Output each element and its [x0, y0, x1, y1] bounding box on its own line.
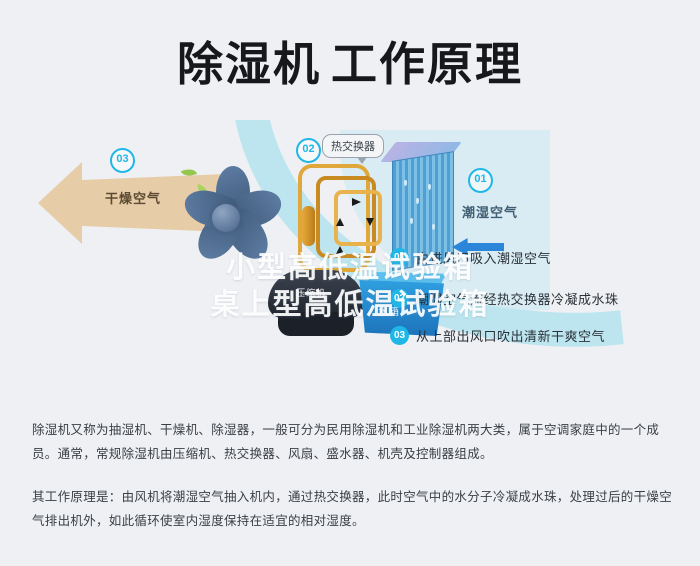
step-item: 03 从上部出风口吹出清新干爽空气	[390, 326, 690, 345]
fan-hub	[212, 204, 240, 232]
dehumidifier-diagram: 干燥空气	[0, 120, 700, 385]
flow-arrow-up-icon	[336, 218, 344, 226]
compressor-base	[278, 312, 354, 336]
step-list: 01 由进风口吸入潮湿空气 02 潮湿空气流经热交换器冷凝成水珠 03 从上部出…	[390, 248, 690, 363]
step-text: 由进风口吸入潮湿空气	[416, 248, 551, 267]
refrigerant-coil-assembly	[290, 160, 400, 280]
compressor-label: 压缩机	[296, 286, 326, 299]
infographic-page: 除湿机工作原理 干燥空气	[0, 0, 700, 566]
step-item: 02 潮湿空气流经热交换器冷凝成水珠	[390, 289, 690, 308]
paragraph-1: 除湿机又称为抽湿机、干燥机、除湿器，一般可分为民用除湿机和工业除湿机两大类，属于…	[32, 418, 672, 467]
paragraph-2: 其工作原理是：由风机将潮湿空气抽入机内，通过热交换器，此时空气中的水分子冷凝成水…	[32, 485, 672, 534]
title-part-1: 除湿机	[177, 38, 321, 90]
step-number: 03	[390, 326, 409, 345]
page-title: 除湿机工作原理	[0, 28, 700, 94]
flow-arrow-right-icon	[352, 198, 361, 206]
step-number: 02	[390, 289, 409, 308]
receiver-cylinder	[302, 206, 315, 246]
step-item: 01 由进风口吸入潮湿空气	[390, 248, 690, 267]
diagram-badge-03: 03	[110, 148, 135, 173]
step-text: 从上部出风口吹出清新干爽空气	[416, 326, 605, 345]
dry-air-label: 干燥空气	[105, 188, 161, 207]
heat-exchanger-callout: 热交换器	[322, 134, 384, 158]
humid-air-label: 潮湿空气	[462, 202, 518, 221]
flow-arrow-up-icon	[336, 246, 344, 254]
diagram-badge-02: 02	[296, 138, 321, 163]
flow-arrow-down-icon	[366, 218, 374, 226]
step-number: 01	[390, 248, 409, 267]
title-part-2: 工作原理	[331, 38, 523, 90]
fan-icon	[168, 158, 284, 274]
step-text: 潮湿空气流经热交换器冷凝成水珠	[416, 289, 619, 308]
article-body: 除湿机又称为抽湿机、干燥机、除湿器，一般可分为民用除湿机和工业除湿机两大类，属于…	[32, 418, 672, 534]
diagram-badge-01: 01	[468, 168, 493, 193]
